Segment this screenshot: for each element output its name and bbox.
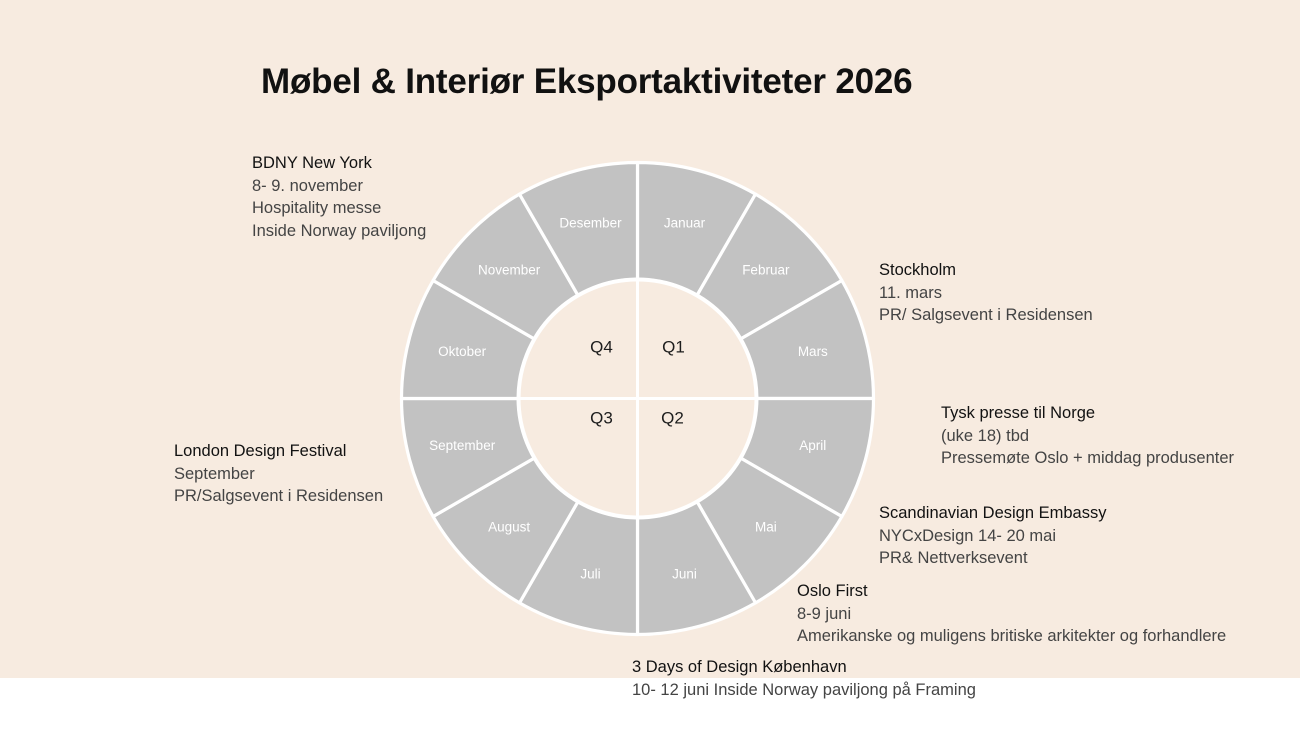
annotation-sde-title: Scandinavian Design Embassy (879, 502, 1106, 525)
annotation-bdny-line-2: Hospitality messe (252, 197, 426, 220)
annotation-bdny-line-3: Inside Norway paviljong (252, 220, 426, 243)
annotation-sde-line-1: NYCxDesign 14- 20 mai (879, 525, 1106, 548)
annotation-stockholm-line-2: PR/ Salgsevent i Residensen (879, 304, 1093, 327)
annotation-sde-line-2: PR& Nettverksevent (879, 547, 1106, 570)
annotation-london-line-2: PR/Salgsevent i Residensen (174, 485, 383, 508)
annotation-3-days-of-design: 3 Days of Design København 10- 12 juni I… (632, 656, 976, 701)
month-label-mai: Mai (755, 519, 777, 534)
annotation-stockholm: Stockholm 11. mars PR/ Salgsevent i Resi… (879, 259, 1093, 327)
quarter-label-q3: Q3 (590, 409, 613, 428)
month-label-november: November (478, 263, 541, 278)
annotation-stockholm-title: Stockholm (879, 259, 1093, 282)
annotation-stockholm-line-1: 11. mars (879, 282, 1093, 305)
annotation-tysk-presse: Tysk presse til Norge (uke 18) tbd Press… (941, 402, 1234, 470)
annotation-oslo-title: Oslo First (797, 580, 1226, 603)
page-title: Møbel & Interiør Eksportaktiviteter 2026 (261, 62, 912, 102)
quarter-label-q2: Q2 (661, 409, 684, 428)
annotation-tysk-line-2: Pressemøte Oslo + middag produsenter (941, 447, 1234, 470)
annotation-tysk-line-1: (uke 18) tbd (941, 425, 1234, 448)
annotation-london-line-1: September (174, 463, 383, 486)
annotation-3days-title: 3 Days of Design København (632, 656, 976, 679)
annotation-oslo-line-2: Amerikanske og muligens britiske arkitek… (797, 625, 1226, 648)
quarter-label-q4: Q4 (590, 338, 613, 357)
annotation-bdny-new-york: BDNY New York 8- 9. november Hospitality… (252, 152, 426, 242)
month-label-august: August (488, 519, 530, 534)
annotation-oslo-first: Oslo First 8-9 juni Amerikanske og mulig… (797, 580, 1226, 648)
month-label-oktober: Oktober (438, 344, 487, 359)
annotation-scandinavian-design-embassy: Scandinavian Design Embassy NYCxDesign 1… (879, 502, 1106, 570)
annotation-london-title: London Design Festival (174, 440, 383, 463)
month-label-juni: Juni (672, 566, 697, 581)
annotation-bdny-line-1: 8- 9. november (252, 175, 426, 198)
annotation-bdny-title: BDNY New York (252, 152, 426, 175)
month-label-september: September (429, 438, 496, 453)
month-label-mars: Mars (798, 344, 828, 359)
month-label-juli: Juli (580, 566, 600, 581)
slide-canvas: Møbel & Interiør Eksportaktiviteter 2026… (0, 0, 1300, 731)
annotation-london-design-festival: London Design Festival September PR/Salg… (174, 440, 383, 508)
month-label-desember: Desember (559, 216, 622, 231)
quarter-label-q1: Q1 (662, 338, 685, 357)
annotation-tysk-title: Tysk presse til Norge (941, 402, 1234, 425)
month-label-januar: Januar (664, 216, 706, 231)
annotation-3days-line-1: 10- 12 juni Inside Norway paviljong på F… (632, 679, 976, 702)
quarter-month-donut-chart: JanuarFebruarMarsAprilMaiJuniJuliAugustS… (399, 160, 876, 637)
month-label-april: April (799, 438, 826, 453)
annotation-oslo-line-1: 8-9 juni (797, 603, 1226, 626)
month-label-februar: Februar (742, 263, 790, 278)
